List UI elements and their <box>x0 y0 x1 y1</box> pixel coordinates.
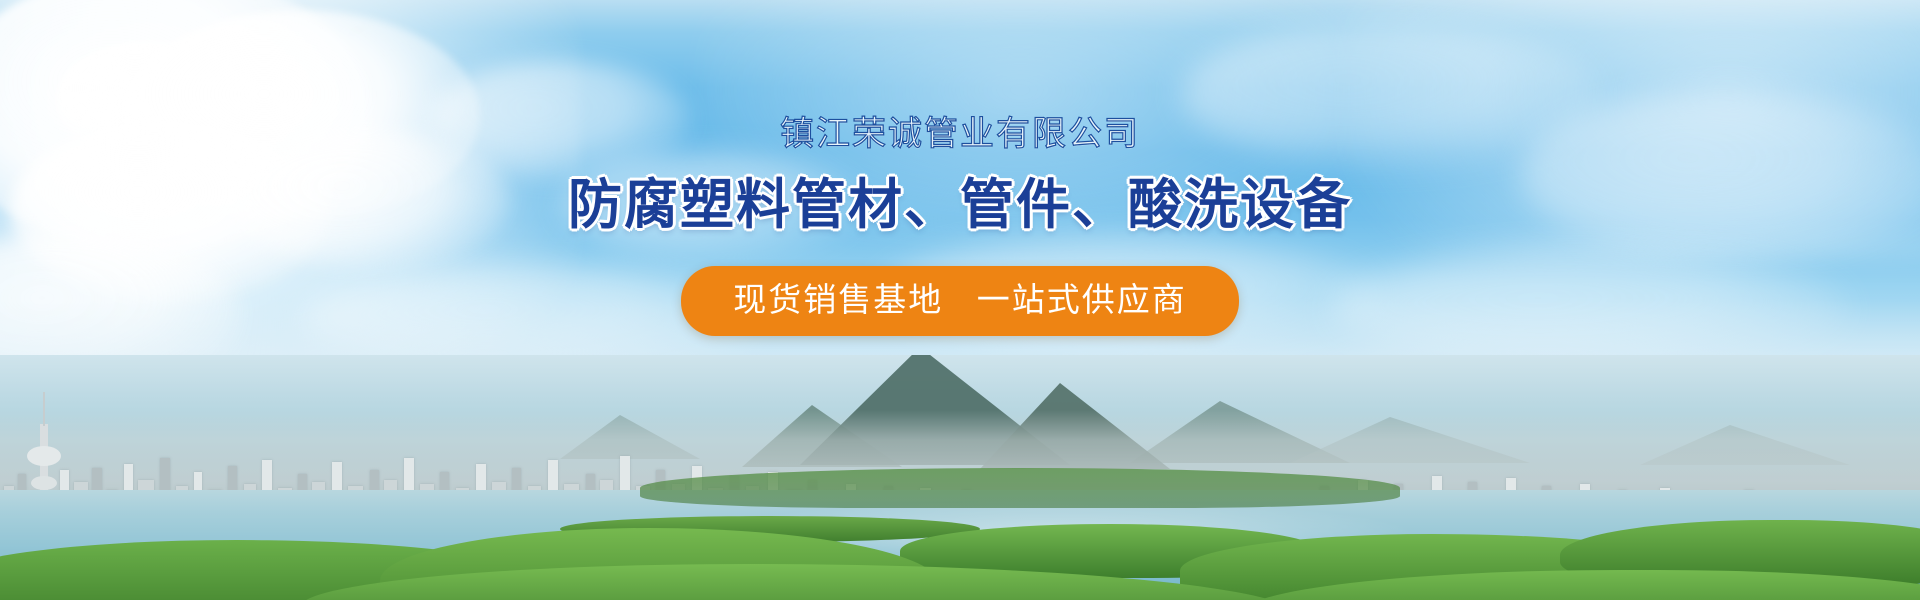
foliage <box>640 468 1400 508</box>
cta-button[interactable]: 现货销售基地 一站式供应商 <box>681 266 1239 336</box>
page-title: 防腐塑料管材、管件、酸洗设备 <box>0 172 1920 238</box>
banner-content: 镇江荣诚管业有限公司 防腐塑料管材、管件、酸洗设备 现货销售基地 一站式供应商 <box>0 0 1920 336</box>
landscape-photo <box>0 355 1920 600</box>
company-name: 镇江荣诚管业有限公司 <box>0 112 1920 156</box>
antenna-icon <box>43 392 45 426</box>
cta-container: 现货销售基地 一站式供应商 <box>0 266 1920 336</box>
hero-banner: 镇江荣诚管业有限公司 防腐塑料管材、管件、酸洗设备 现货销售基地 一站式供应商 <box>0 0 1920 600</box>
